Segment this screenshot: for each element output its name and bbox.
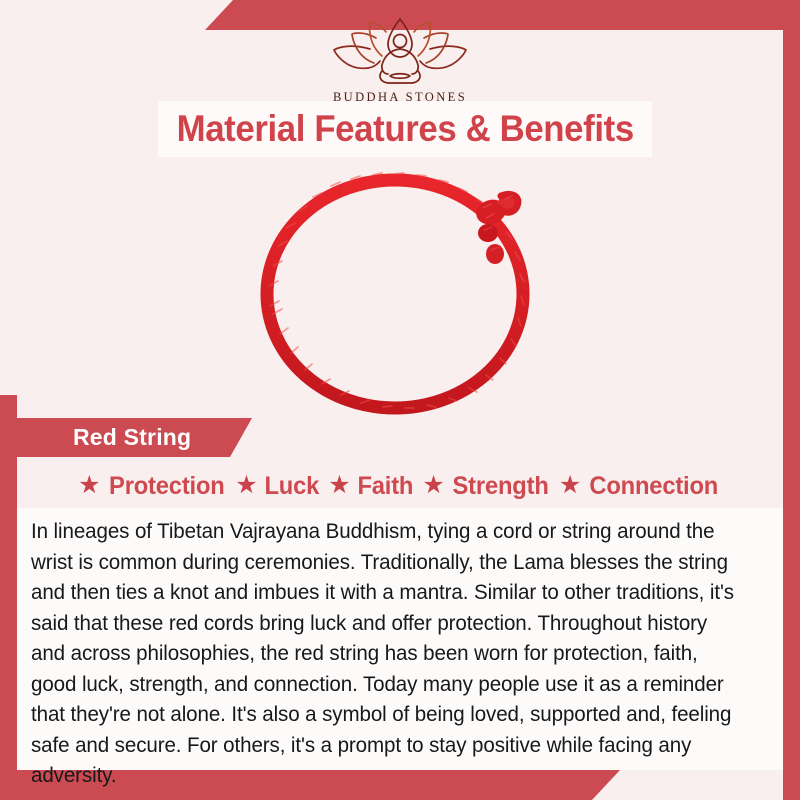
benefit-item-luck: ★ Luck xyxy=(235,472,320,501)
star-icon: ★ xyxy=(78,473,100,498)
benefits-row: ★ Protection ★ Luck ★ Faith ★ Strength ★… xyxy=(17,464,783,508)
benefit-label: Faith xyxy=(357,472,413,501)
star-icon: ★ xyxy=(328,473,350,498)
infographic-page: BUDDHA STONES Material Features & Benefi… xyxy=(0,0,800,800)
left-red-band xyxy=(0,395,17,800)
star-icon: ★ xyxy=(235,473,257,498)
product-label-text: Red String xyxy=(73,424,191,451)
brand-logo: BUDDHA STONES xyxy=(0,16,800,105)
benefit-item-protection: ★ Protection xyxy=(78,472,227,501)
benefit-label: Protection xyxy=(109,472,225,501)
lotus-meditation-logo-icon xyxy=(324,16,476,88)
page-title: Material Features & Benefits xyxy=(176,108,633,150)
benefit-label: Luck xyxy=(264,472,319,501)
title-banner: Material Features & Benefits xyxy=(158,101,652,157)
description-block: In lineages of Tibetan Vajrayana Buddhis… xyxy=(17,508,783,770)
description-text: In lineages of Tibetan Vajrayana Buddhis… xyxy=(31,517,739,792)
benefit-label: Connection xyxy=(590,472,719,501)
star-icon: ★ xyxy=(422,473,444,498)
benefit-label: Strength xyxy=(452,472,548,501)
benefit-item-faith: ★ Faith xyxy=(328,472,414,501)
right-red-band xyxy=(783,0,800,800)
star-icon: ★ xyxy=(559,473,581,498)
product-label-ribbon: Red String xyxy=(17,418,252,457)
product-image-area xyxy=(17,160,783,418)
benefit-item-strength: ★ Strength xyxy=(422,472,551,501)
red-string-bracelet-image xyxy=(255,166,545,418)
benefit-item-connection: ★ Connection xyxy=(559,472,722,501)
